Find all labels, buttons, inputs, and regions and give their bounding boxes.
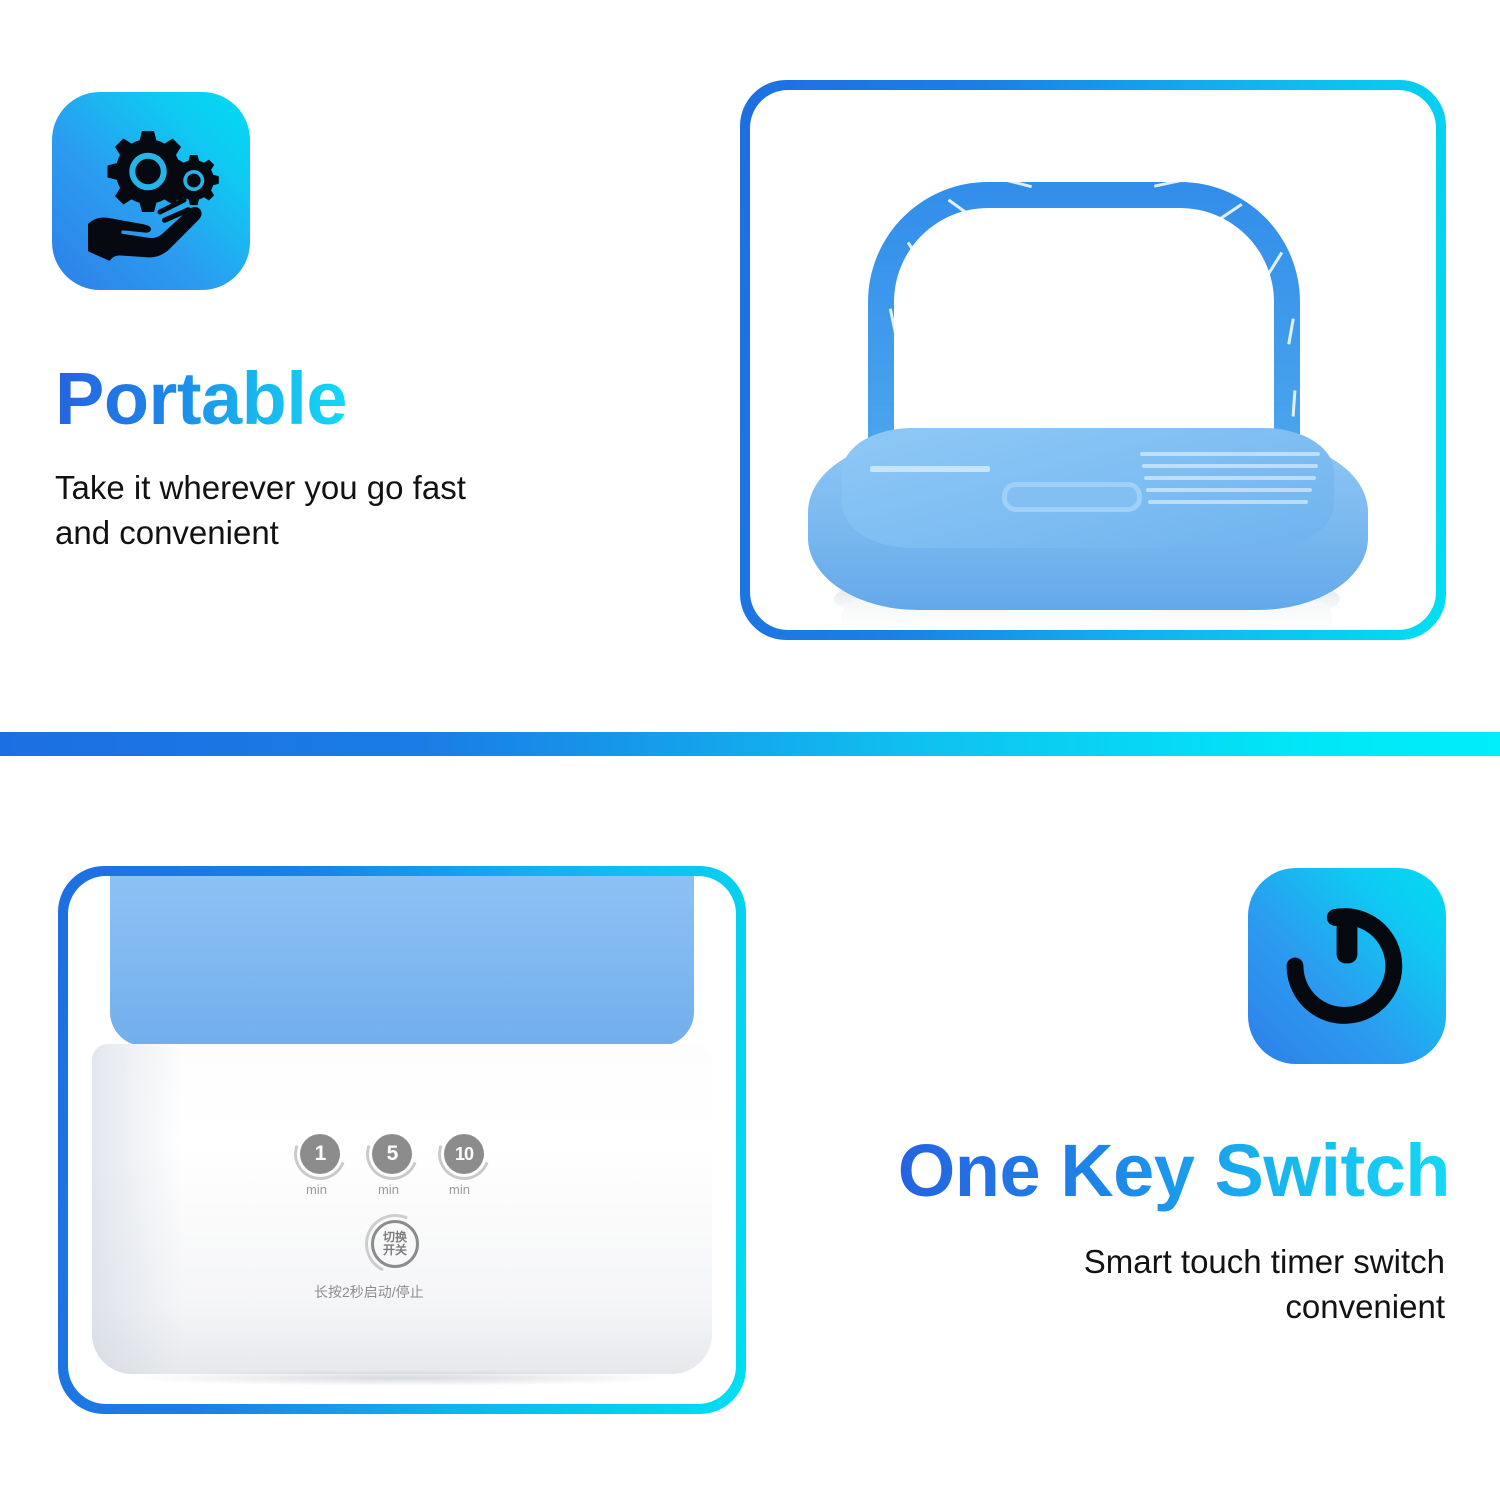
timer-button-10-unit: min — [449, 1182, 470, 1197]
one-key-switch-subtitle-line-1: Smart touch timer switch — [845, 1240, 1445, 1285]
portable-subtitle-line-2: and convenient — [55, 511, 615, 556]
portable-subtitle: Take it wherever you go fast and conveni… — [55, 466, 615, 555]
device-body-shading — [92, 1044, 182, 1374]
lid-seam — [870, 466, 990, 472]
lid-rib — [1140, 452, 1320, 456]
device-lid — [110, 876, 694, 1046]
lid-rib — [1148, 500, 1308, 504]
portable-device-illustration — [750, 90, 1436, 630]
product-photo-control-panel: 1 min 5 min 10 min 切换 开关 长按2秒启动/停止 — [68, 876, 736, 1404]
product-photo-frame-portable — [740, 80, 1446, 640]
timer-button-1-unit: min — [306, 1182, 327, 1197]
timer-button-10[interactable]: 10 — [444, 1134, 484, 1174]
device-body-illustration: 1 min 5 min 10 min 切换 开关 长按2秒启动/停止 — [68, 876, 736, 1404]
device-shadow — [128, 1370, 676, 1386]
gear-in-hand-icon-badge — [52, 92, 250, 290]
lid-rib — [1142, 464, 1318, 468]
lid-rib — [1144, 476, 1316, 480]
portable-subtitle-line-1: Take it wherever you go fast — [55, 466, 615, 511]
timer-button-5[interactable]: 5 — [372, 1134, 412, 1174]
one-key-switch-subtitle-line-2: convenient — [845, 1285, 1445, 1330]
page-title-one-key-switch: One Key Switch — [898, 1128, 1450, 1213]
power-button-icon — [1282, 901, 1412, 1031]
lid-rib — [1146, 488, 1312, 492]
product-photo-portable — [750, 90, 1436, 630]
page-title-portable: Portable — [55, 356, 347, 441]
control-panel: 1 min 5 min 10 min 切换 开关 长按2秒启动/停止 — [286, 1126, 526, 1316]
lid-pull-tab — [1002, 482, 1142, 512]
section-divider — [0, 732, 1500, 756]
product-photo-frame-switch: 1 min 5 min 10 min 切换 开关 长按2秒启动/停止 — [58, 866, 746, 1414]
handle-segment — [1080, 178, 1106, 181]
power-button-icon-badge — [1248, 868, 1446, 1064]
timer-button-5-unit: min — [378, 1182, 399, 1197]
switch-button-hint: 长按2秒启动/停止 — [314, 1282, 424, 1302]
timer-button-1[interactable]: 1 — [300, 1134, 340, 1174]
gear-in-hand-icon — [76, 116, 226, 266]
one-key-switch-subtitle: Smart touch timer switch convenient — [845, 1240, 1445, 1329]
switch-button[interactable]: 切换 开关 — [371, 1220, 419, 1268]
switch-button-label-line-2: 开关 — [383, 1244, 407, 1257]
